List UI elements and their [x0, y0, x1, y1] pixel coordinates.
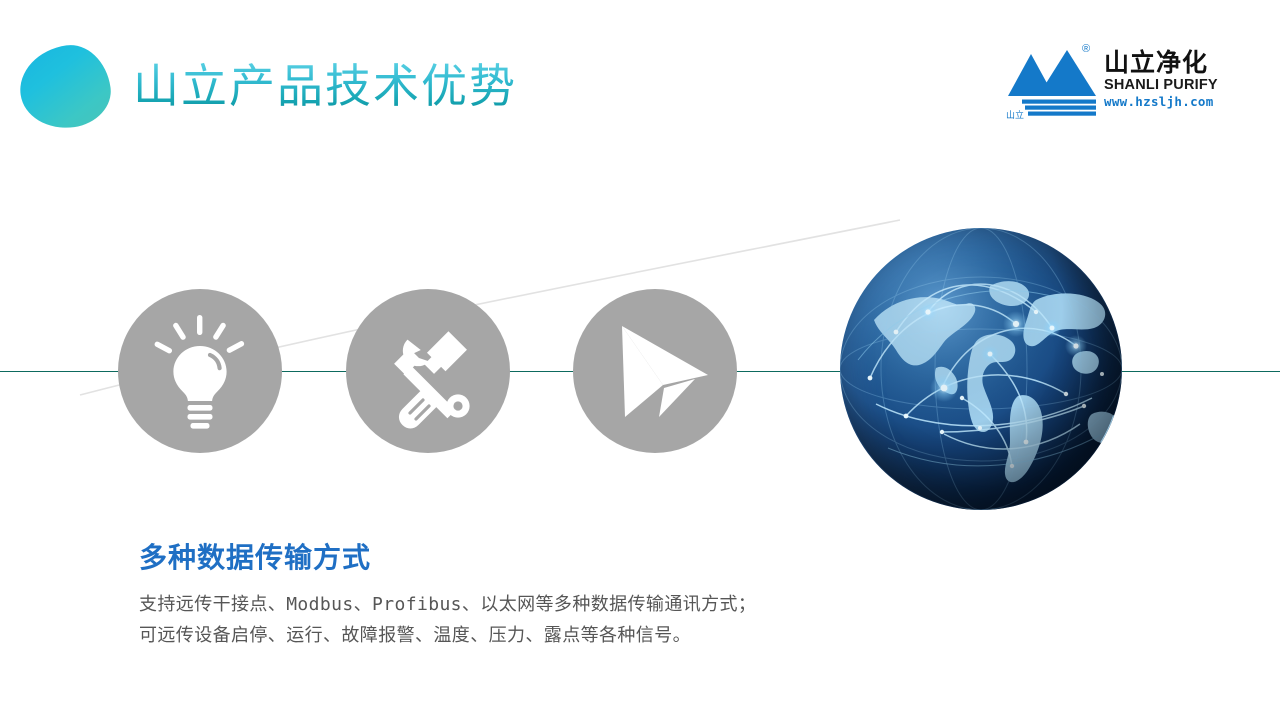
section-heading: 多种数据传输方式: [139, 540, 371, 576]
icon-circle-send[interactable]: [573, 289, 737, 453]
logo-company-name-en: SHANLI PURIFY: [1104, 77, 1224, 94]
slide-canvas: 山立产品技术优势 ® 山立 山立净化 SHANLI PURIFY www.hzs…: [0, 0, 1280, 720]
company-logo: ® 山立 山立净化 SHANLI PURIFY www.hzsljh.com: [1004, 44, 1222, 122]
paper-plane-icon: [573, 289, 737, 453]
registered-trademark-icon: ®: [1082, 44, 1090, 55]
logo-company-name-cn: 山立净化: [1104, 48, 1224, 77]
body-line-2: 可远传设备启停、运行、故障报警、温度、压力、露点等各种信号。: [139, 620, 899, 651]
section-body: 支持远传干接点、Modbus、Profibus、以太网等多种数据传输通讯方式； …: [139, 589, 899, 651]
lightbulb-icon: [118, 289, 282, 453]
icon-circle-lightbulb[interactable]: [118, 289, 282, 453]
page-title: 山立产品技术优势: [133, 58, 517, 114]
logo-mark-caption: 山立: [1006, 110, 1024, 120]
icon-circle-tools[interactable]: [346, 289, 510, 453]
decorative-blob: [15, 40, 116, 134]
logo-website: www.hzsljh.com: [1104, 94, 1224, 109]
mountain-logo-icon: [1004, 46, 1100, 118]
wrench-screwdriver-icon: [346, 289, 510, 453]
network-globe-image: [840, 228, 1122, 510]
body-line-1: 支持远传干接点、Modbus、Profibus、以太网等多种数据传输通讯方式；: [139, 589, 899, 620]
